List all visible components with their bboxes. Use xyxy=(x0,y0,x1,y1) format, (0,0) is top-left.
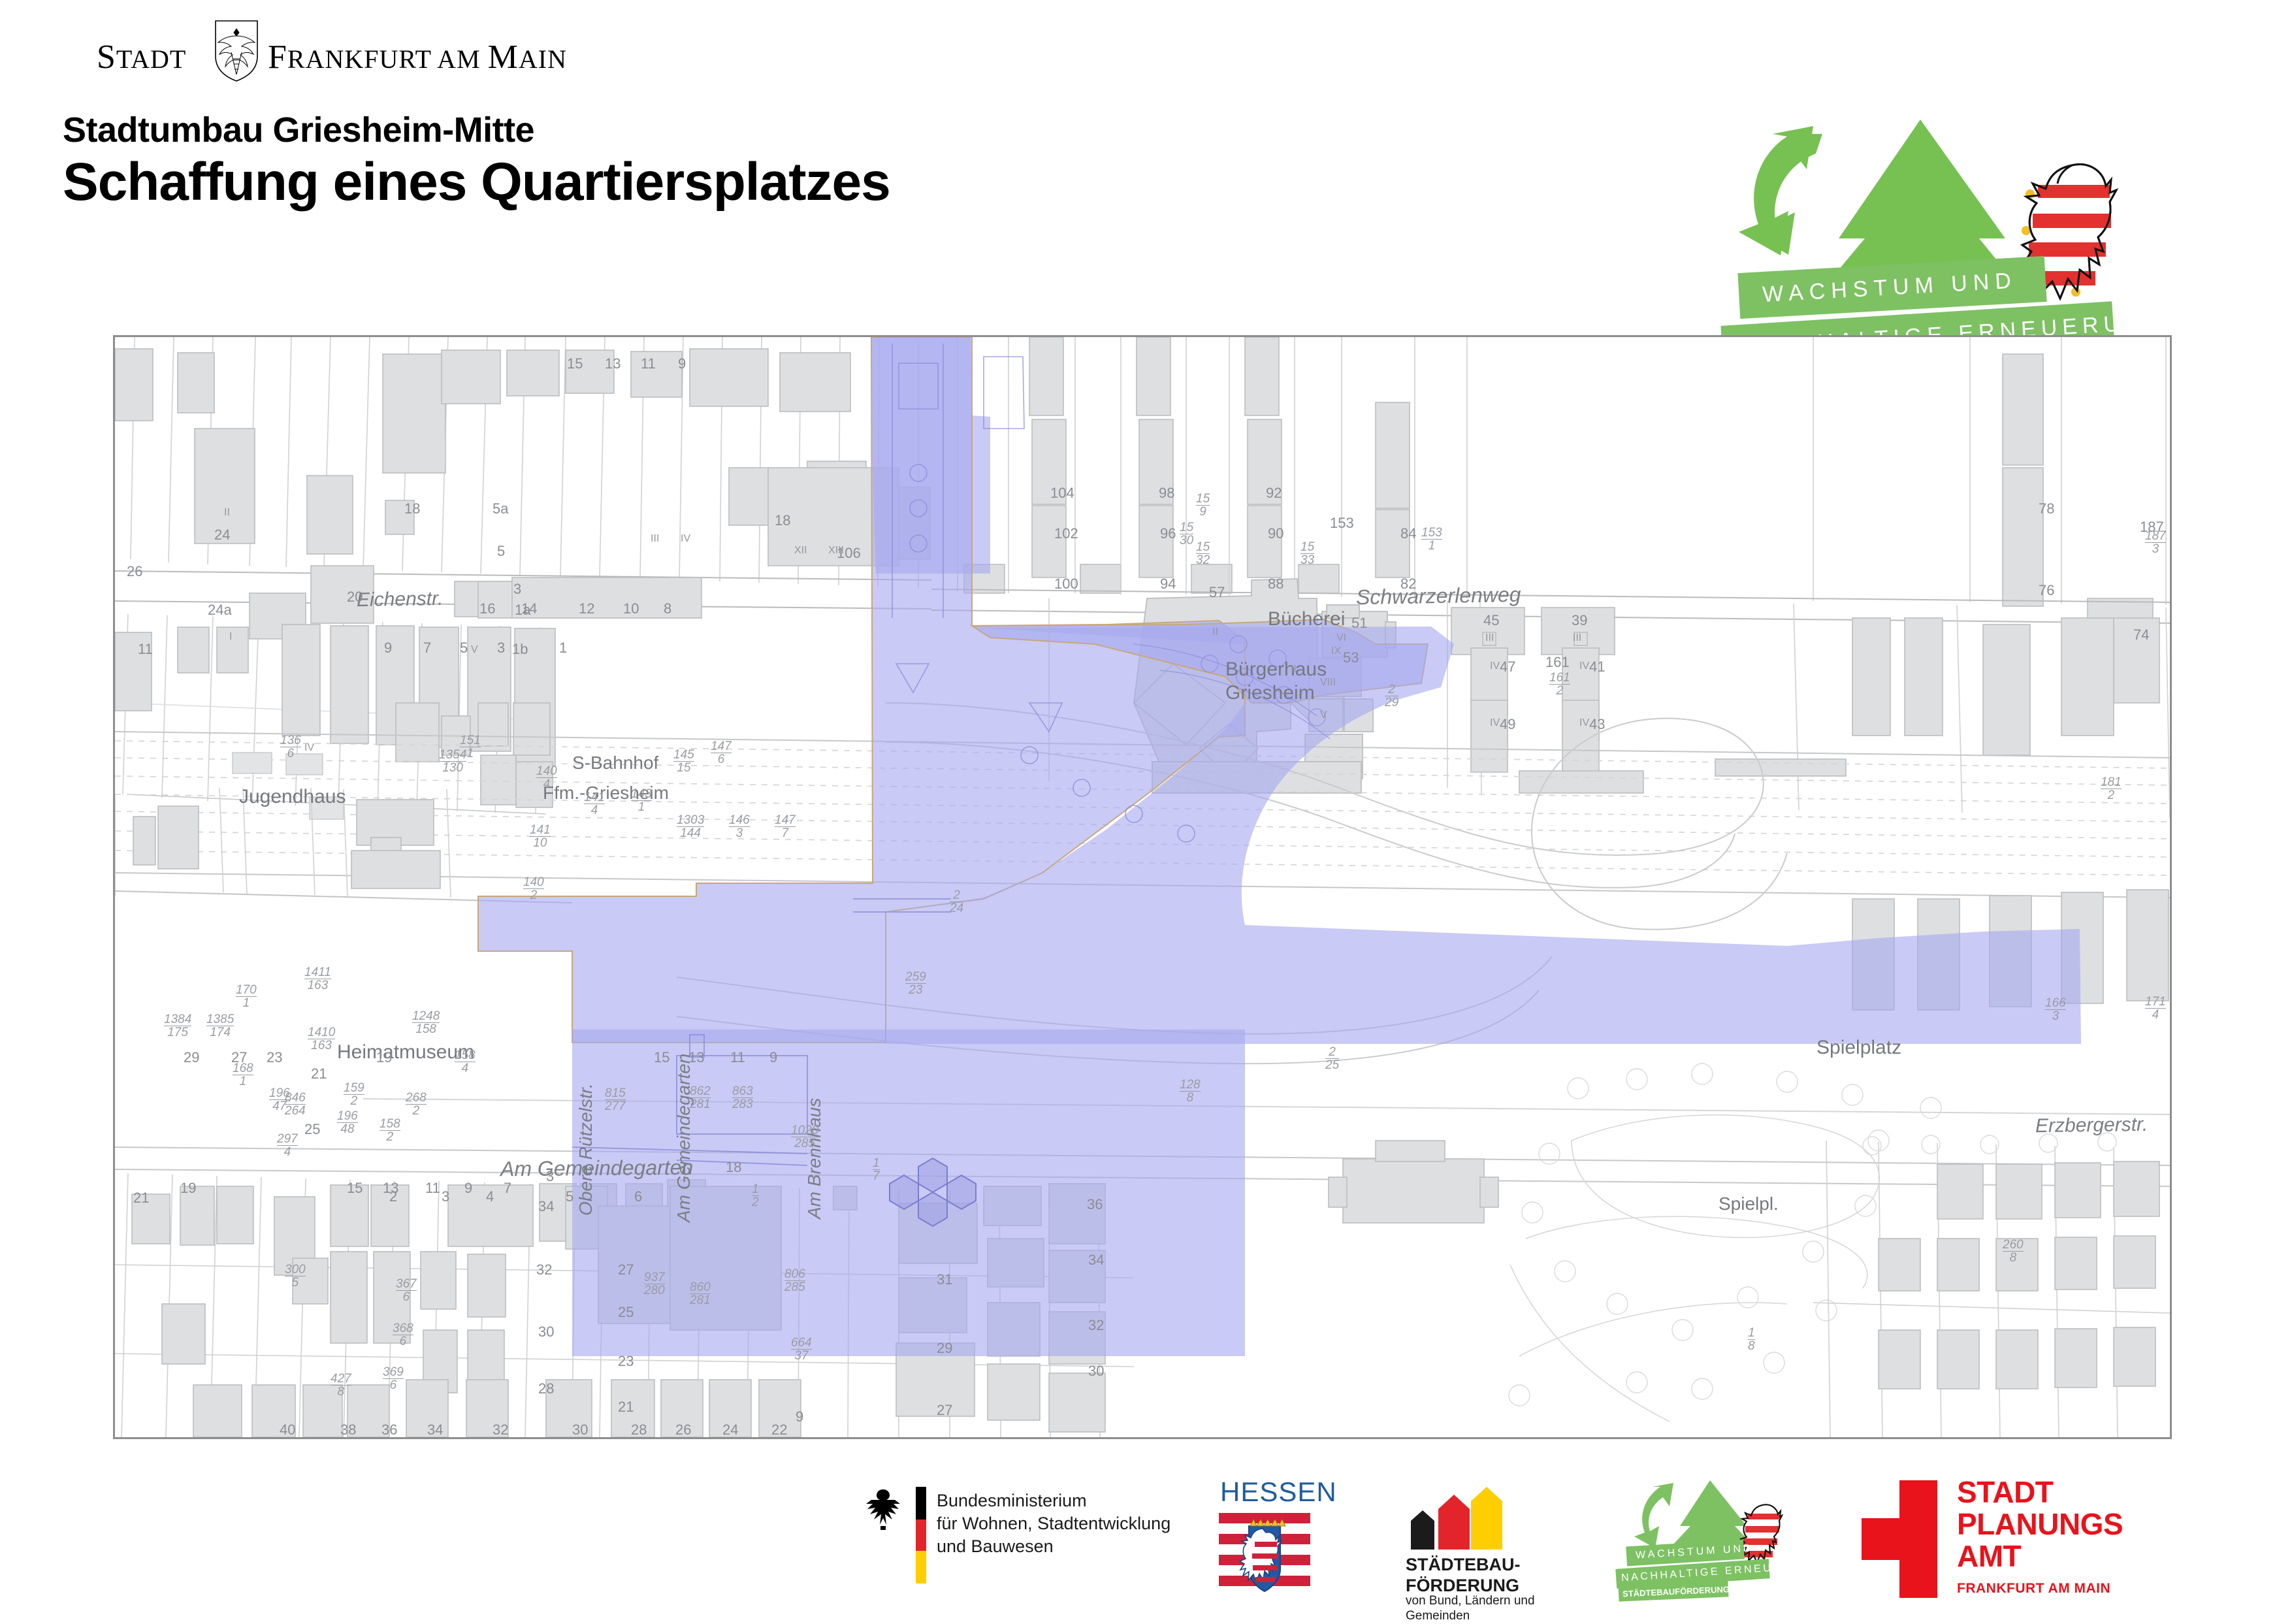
parcel-number: 1533 xyxy=(1300,541,1314,566)
parcel-number: 66437 xyxy=(791,1337,812,1362)
house-number: 6 xyxy=(634,1188,642,1205)
parcel-number: 224 xyxy=(950,889,963,915)
parcel-number: 1366 xyxy=(280,734,301,760)
house-number: 34 xyxy=(427,1421,443,1438)
parcel-number: 2974 xyxy=(277,1133,298,1158)
floor-count: IV xyxy=(1579,717,1589,729)
bmwsb-line2: für Wohnen, Stadtentwicklung xyxy=(937,1512,1170,1535)
parcel-number: 4278 xyxy=(331,1372,351,1398)
floor-count: XII xyxy=(794,545,807,557)
street-label: Am Gemeindegarten xyxy=(500,1156,694,1182)
house-number: 15 xyxy=(654,1049,670,1066)
house-number: 36 xyxy=(381,1421,397,1438)
house-number: 24 xyxy=(722,1421,738,1438)
parcel-number: 1020285 xyxy=(791,1124,818,1150)
house-number: 34 xyxy=(538,1198,554,1215)
parcel-number: 1411163 xyxy=(304,966,331,992)
house-number: 9 xyxy=(796,1408,803,1425)
house-number: 3 xyxy=(497,640,505,657)
house-number: 18 xyxy=(404,500,420,517)
parcel-number: 806285 xyxy=(784,1268,805,1293)
house-number: 7 xyxy=(423,640,431,657)
hessen-coat-of-arms-icon xyxy=(1219,1509,1310,1600)
house-number: 5 xyxy=(497,543,505,560)
house-number: 49 xyxy=(1500,716,1515,733)
house-number: 11 xyxy=(641,355,656,372)
house-number: 5a xyxy=(492,500,508,517)
house-number: 1a xyxy=(515,602,530,619)
floor-count: III xyxy=(651,533,659,545)
parcel-number: 1476 xyxy=(711,740,732,766)
parcel-number: 159 xyxy=(1196,493,1210,518)
map-canvas: Eichenstr.SchwarzerlenwegAm Gemeindegart… xyxy=(115,337,2170,1437)
floor-count: IV xyxy=(681,533,690,545)
floor-count: IV xyxy=(1579,660,1589,672)
floor-count: IV xyxy=(1490,717,1500,729)
parcel-number: 18 xyxy=(1748,1327,1755,1352)
stadtplanungsamt-logo: STADT PLANUNGS AMT FRANKFURT AM MAIN xyxy=(1862,1475,2201,1606)
house-number: 22 xyxy=(771,1421,787,1438)
house-number: 74 xyxy=(2133,626,2149,643)
floor-count: V xyxy=(471,644,478,656)
staedtebaufoerderung-logo: STÄDTEBAU- FÖRDERUNG von Bund, Ländern u… xyxy=(1398,1475,1568,1606)
floor-count: V xyxy=(1320,709,1327,721)
parcel-number: 1582 xyxy=(379,1118,400,1143)
staedtebau-title: STÄDTEBAU- FÖRDERUNG xyxy=(1406,1555,1521,1597)
house-number: 19 xyxy=(180,1180,196,1197)
house-number: 1 xyxy=(559,640,567,657)
house-number: 51 xyxy=(1351,615,1367,632)
house-number: 21 xyxy=(618,1399,634,1416)
bmwsb-text: Bundesministerium für Wohnen, Stadtentwi… xyxy=(937,1489,1170,1558)
house-number: 23 xyxy=(266,1049,282,1066)
poi-label: Griesheim xyxy=(1225,682,1315,704)
house-number: 23 xyxy=(618,1353,634,1370)
house-number: 13 xyxy=(605,355,621,372)
parcel-number: 2682 xyxy=(406,1092,427,1117)
parcel-number: 1402 xyxy=(523,876,544,901)
street-label: Obere Rützelstr. xyxy=(575,1083,596,1216)
house-number: 11 xyxy=(425,1180,440,1197)
house-number: 9 xyxy=(678,355,686,372)
floor-count: IX xyxy=(1331,645,1341,657)
house-number: 34 xyxy=(1088,1252,1104,1269)
house-number: 3 xyxy=(513,581,521,598)
house-number: 32 xyxy=(492,1421,508,1438)
poi-label: S-Bahnhof xyxy=(572,753,658,773)
parcel-number: 1414 xyxy=(584,791,605,817)
house-number: 45 xyxy=(1483,612,1499,629)
hessen-logo: HESSEN xyxy=(1210,1475,1347,1606)
parcel-number: 1404 xyxy=(536,765,557,790)
parcel-number: 3676 xyxy=(396,1278,417,1303)
house-number: 28 xyxy=(538,1380,554,1397)
page-subtitle: Stadtumbau Griesheim-Mitte xyxy=(63,110,534,150)
parcel-number: 1584 xyxy=(455,1049,476,1075)
frankfurt-eagle-crest-icon xyxy=(212,18,261,84)
parcel-number: 1463 xyxy=(729,814,750,839)
parcel-number: 1303144 xyxy=(677,814,704,839)
page-title: Schaffung eines Quartiersplatzes xyxy=(63,152,890,213)
house-number: 88 xyxy=(1268,576,1283,593)
parcel-number: 1385174 xyxy=(206,1013,234,1039)
house-number: 30 xyxy=(1088,1363,1104,1380)
house-number: 84 xyxy=(1400,525,1416,542)
hessen-wordmark: HESSEN xyxy=(1220,1476,1337,1508)
parcel-number: 1531 xyxy=(1421,527,1442,552)
house-number: 3 xyxy=(546,1168,554,1185)
poi-label: Bücherei xyxy=(1268,608,1345,630)
parcel-number: 3005 xyxy=(285,1263,306,1289)
parcel-number: 1431 xyxy=(631,788,652,813)
house-number: 26 xyxy=(675,1421,691,1438)
page-header: STADT FRANKFURT AM MAIN Stadtumbau Gries… xyxy=(0,0,2292,327)
house-number: 13 xyxy=(688,1049,704,1066)
spa-subline: FRANKFURT AM MAIN xyxy=(1957,1581,2110,1597)
parcel-number: 1532 xyxy=(1196,541,1210,566)
house-number: 24 xyxy=(214,527,230,544)
house-number: 12 xyxy=(579,600,594,617)
house-number: 43 xyxy=(1589,716,1605,733)
house-number: 18 xyxy=(726,1159,741,1176)
stadtplanungsamt-wordmark: STADT PLANUNGS AMT xyxy=(1957,1476,2123,1573)
house-number: 30 xyxy=(572,1421,588,1438)
house-number: 32 xyxy=(536,1261,552,1278)
parcel-number: 19648 xyxy=(337,1110,358,1135)
bmwsb-line3: und Bauwesen xyxy=(937,1535,1170,1558)
city-logo-word-stadt: STADT xyxy=(97,38,186,76)
footer-logo-strip: Bundesministerium für Wohnen, Stadtentwi… xyxy=(0,1475,2292,1620)
poi-label: Spielplatz xyxy=(1816,1037,1901,1059)
parcel-number: 1681 xyxy=(233,1062,253,1088)
city-of-frankfurt-logo: STADT FRANKFURT AM MAIN xyxy=(97,27,515,80)
house-number: 102 xyxy=(1054,525,1078,542)
house-number: 53 xyxy=(1343,649,1359,666)
house-number: 9 xyxy=(464,1180,472,1197)
house-number: 82 xyxy=(1400,576,1416,593)
house-number: 26 xyxy=(127,563,142,580)
parcel-number: 863283 xyxy=(732,1085,753,1111)
house-number: 31 xyxy=(937,1271,952,1288)
parcel-number: 1288 xyxy=(1180,1079,1201,1104)
house-number: 92 xyxy=(1266,485,1282,502)
parcel-number: 1410163 xyxy=(308,1026,335,1052)
house-number: 16 xyxy=(479,600,495,617)
poi-label: Bürgerhaus xyxy=(1225,658,1327,681)
house-number: 8 xyxy=(664,600,671,617)
parcel-number: 25923 xyxy=(905,971,926,996)
house-number: 4 xyxy=(486,1188,494,1205)
parcel-number: 937280 xyxy=(644,1271,665,1297)
staedtebau-sub: von Bund, Ländern und Gemeinden xyxy=(1406,1594,1535,1624)
parcel-number: 1477 xyxy=(775,814,796,839)
staedtebau-line1: STÄDTEBAU- xyxy=(1406,1555,1521,1576)
house-number: 100 xyxy=(1054,576,1078,593)
street-label: Schwarzerlenweg xyxy=(1356,583,1521,609)
poi-label: Spielpl. xyxy=(1719,1194,1779,1214)
street-label: Erzbergerstr. xyxy=(2035,1114,2148,1137)
floor-count: III xyxy=(1573,632,1581,644)
house-number: 11 xyxy=(730,1049,745,1066)
house-number: 47 xyxy=(1500,658,1515,675)
german-flag-bar-icon xyxy=(916,1487,926,1583)
parcel-number: 17 xyxy=(873,1157,880,1182)
parcel-number: 815277 xyxy=(605,1087,626,1112)
house-number: 40 xyxy=(280,1421,295,1438)
wachstum-erneuerung-footer-logo: WACHSTUM UND NACHHALTIGE ERNEUERUNG STÄD… xyxy=(1613,1475,1829,1606)
house-number: 1b xyxy=(512,641,528,658)
house-number: 5 xyxy=(460,640,468,657)
house-number: 19 xyxy=(376,1049,392,1066)
poi-label: Heimatmuseum xyxy=(337,1041,474,1064)
house-number: 76 xyxy=(2039,582,2054,599)
staedtebau-sub1: von Bund, Ländern und xyxy=(1406,1594,1535,1609)
parcel-number: 1612 xyxy=(1549,672,1570,697)
street-label: Am Gemeindegarten xyxy=(673,1054,694,1222)
floor-count: I xyxy=(229,631,232,643)
house-number: 25 xyxy=(618,1304,634,1321)
house-number: 9 xyxy=(769,1049,777,1066)
house-number: 96 xyxy=(1160,525,1176,542)
poi-label: Jugendhaus xyxy=(239,786,346,808)
parcel-number: 225 xyxy=(1325,1046,1339,1071)
street-label: Am Brennhaus xyxy=(804,1098,825,1219)
floor-count: II xyxy=(224,507,230,519)
house-number: 10 xyxy=(623,600,639,617)
cadastral-map[interactable]: Eichenstr.SchwarzerlenwegAm Gemeindegart… xyxy=(113,335,2172,1439)
parcel-number: 2608 xyxy=(2003,1239,2024,1264)
house-number: 28 xyxy=(631,1421,647,1438)
staedtebau-sub2: Gemeinden xyxy=(1406,1609,1535,1624)
floor-count: IV xyxy=(304,742,314,754)
house-number: 98 xyxy=(1159,485,1174,502)
floor-count: VIII xyxy=(1320,677,1336,689)
parcel-number: 14110 xyxy=(530,824,551,849)
parcel-number: 860281 xyxy=(690,1281,711,1307)
parcel-number: 1663 xyxy=(2045,997,2066,1022)
house-number: 24a xyxy=(208,602,232,619)
house-number: 20 xyxy=(347,589,363,606)
bundesadler-icon xyxy=(864,1487,903,1534)
house-number: 29 xyxy=(937,1340,952,1357)
parcel-number: 862281 xyxy=(690,1085,711,1111)
parcel-number: 1511 xyxy=(460,734,481,760)
floor-count: VI xyxy=(1336,632,1346,644)
parcel-number: 3696 xyxy=(383,1366,404,1391)
parcel-number: 12 xyxy=(752,1183,759,1209)
house-number: 57 xyxy=(1209,584,1225,601)
parcel-number: 1714 xyxy=(2145,996,2166,1021)
house-number: 32 xyxy=(1088,1317,1104,1334)
house-number: 90 xyxy=(1268,525,1283,542)
parcel-number: 1384175 xyxy=(164,1013,191,1039)
house-number: 7 xyxy=(504,1180,511,1197)
stadtplanungsamt-mark-icon xyxy=(1862,1480,1937,1598)
house-number: 15 xyxy=(347,1180,363,1197)
street-label: Eichenstr. xyxy=(357,588,444,611)
house-number: 3 xyxy=(442,1188,449,1205)
house-number: 41 xyxy=(1589,658,1605,675)
parcel-number: 1592 xyxy=(344,1082,364,1107)
floor-count: II xyxy=(1291,664,1297,675)
house-number: 161 xyxy=(1545,654,1570,671)
spa-line2: PLANUNGS xyxy=(1957,1508,2123,1540)
parcel-number: 1812 xyxy=(2101,776,2122,802)
house-number: 30 xyxy=(538,1324,554,1340)
city-logo-word-frankfurt: FRANKFURT AM MAIN xyxy=(268,38,567,76)
parcel-number: 1701 xyxy=(236,984,257,1009)
parcel-number: 846264 xyxy=(285,1092,306,1117)
house-number: 39 xyxy=(1572,612,1587,629)
house-number: 18 xyxy=(775,512,790,529)
house-number: 5 xyxy=(566,1188,573,1205)
staedtebau-line2: FÖRDERUNG xyxy=(1406,1576,1521,1597)
house-number: 25 xyxy=(304,1121,320,1138)
floor-count: II xyxy=(1212,626,1218,638)
house-number: 9 xyxy=(384,640,392,657)
parcel-number: 1873 xyxy=(2145,530,2166,555)
spa-line3: AMT xyxy=(1957,1540,2123,1572)
parcel-number: 3686 xyxy=(393,1322,413,1348)
spa-line1: STADT xyxy=(1957,1476,2123,1508)
map-vector-layer xyxy=(115,337,2170,1437)
house-number: 104 xyxy=(1050,485,1074,502)
house-number: 78 xyxy=(2039,500,2054,517)
house-number: 15 xyxy=(567,355,583,372)
house-number: 11 xyxy=(138,641,153,658)
parcel-number: 229 xyxy=(1385,683,1398,709)
parcel-number: 14515 xyxy=(673,749,694,774)
floor-count: XIII xyxy=(828,545,844,557)
house-number: 94 xyxy=(1160,576,1176,593)
bmwsb-line1: Bundesministerium xyxy=(937,1489,1170,1512)
parcel-number: 1530 xyxy=(1180,521,1193,547)
floor-count: IV xyxy=(1490,660,1500,672)
floor-count: III xyxy=(1485,632,1494,644)
house-number: 27 xyxy=(937,1402,952,1419)
house-number: 27 xyxy=(618,1261,634,1278)
house-number: 38 xyxy=(340,1421,356,1438)
house-number: 21 xyxy=(133,1190,149,1207)
three-houses-icon xyxy=(1406,1484,1504,1550)
house-number: 36 xyxy=(1087,1196,1103,1213)
house-number: 21 xyxy=(311,1065,327,1082)
house-number: 153 xyxy=(1330,515,1354,532)
house-number: 2 xyxy=(389,1188,397,1205)
bmwsb-logo: Bundesministerium für Wohnen, Stadtentwi… xyxy=(864,1475,1177,1606)
parcel-number: 1248158 xyxy=(412,1010,440,1035)
house-number: 29 xyxy=(184,1049,199,1066)
